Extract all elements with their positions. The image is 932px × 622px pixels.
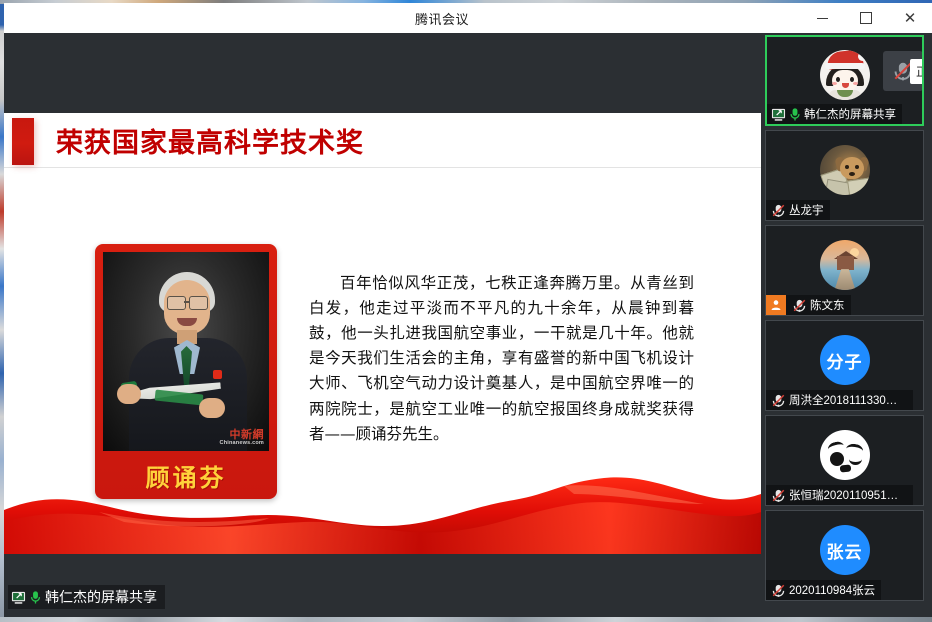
- participant-name-bar: 陈文东: [766, 295, 851, 315]
- taskbar-strip: [0, 617, 932, 622]
- party-pin-icon: [213, 370, 222, 379]
- participant-tile-2[interactable]: 陈文东: [765, 225, 924, 316]
- microphone-on-icon: [29, 590, 42, 605]
- tencent-meeting-window: 腾讯会议 ✕ 荣获国家最高科学技术奖: [0, 0, 932, 622]
- participant-name-bar: 张恒瑞2020110951张恒瑞: [766, 485, 913, 505]
- minimize-icon: [817, 18, 828, 19]
- glasses-right-icon: [189, 296, 208, 310]
- title-accent-bar: [12, 118, 34, 165]
- participant-name: 2020110984张云: [789, 582, 875, 598]
- avatar: [820, 430, 870, 480]
- ribbon-svg: [4, 464, 761, 554]
- santa-hat-pom: [858, 52, 867, 61]
- participant-name-bar: 丛龙宇: [766, 200, 830, 220]
- participant-tile-1[interactable]: 丛龙宇: [765, 130, 924, 221]
- screen-share-label: 韩仁杰的屏幕共享: [8, 585, 165, 609]
- shared-screen-stage[interactable]: 荣获国家最高科学技术奖: [4, 33, 761, 617]
- avatar: [820, 240, 870, 290]
- participant-name: 丛龙宇: [789, 202, 824, 218]
- red-ribbon-decoration: [4, 464, 761, 554]
- avatar-dog-nose: [849, 172, 855, 176]
- microphone-on-icon: [789, 107, 801, 122]
- participant-list[interactable]: 正 韩仁杰的屏幕共享: [761, 33, 932, 617]
- microphone-muted-icon: [771, 488, 786, 503]
- avatar: 分子: [820, 335, 870, 385]
- microphone-muted-icon: [771, 583, 786, 598]
- avatar-dog-eye-left: [845, 165, 849, 169]
- title-bar: 腾讯会议 ✕: [4, 3, 932, 33]
- maximize-button[interactable]: [844, 3, 888, 33]
- slide-title-row: 荣获国家最高科学技术奖: [4, 113, 761, 168]
- close-button[interactable]: ✕: [888, 3, 932, 33]
- avatar-hut: [837, 256, 854, 270]
- portrait-hand-left: [117, 384, 141, 404]
- avatar-eye-left: [830, 452, 844, 466]
- maximize-icon: [860, 12, 872, 24]
- participant-name: 陈文东: [810, 297, 845, 313]
- microphone-muted-icon: [771, 393, 786, 408]
- window-title: 腾讯会议: [4, 9, 800, 28]
- slide-title: 荣获国家最高科学技术奖: [56, 121, 364, 160]
- person-icon: [770, 299, 782, 311]
- portrait-photo: 中新網 Chinanews.com: [103, 252, 269, 451]
- participant-tile-0[interactable]: 正 韩仁杰的屏幕共享: [765, 35, 924, 126]
- screen-share-icon: [11, 590, 26, 605]
- watermark-en: Chinanews.com: [220, 441, 264, 447]
- participant-name-bar: 周洪全2018111330积极…: [766, 390, 913, 410]
- santa-hat-brim: [825, 63, 865, 69]
- participant-name: 周洪全2018111330积极…: [789, 392, 907, 408]
- microphone-muted-icon: [792, 298, 807, 313]
- participant-name-bar: 2020110984张云: [766, 580, 881, 600]
- avatar-mouth: [839, 465, 851, 473]
- photo-watermark: 中新網 Chinanews.com: [220, 430, 264, 447]
- window-controls: ✕: [800, 3, 932, 33]
- avatar-cheek-left: [832, 82, 837, 85]
- close-icon: ✕: [904, 11, 917, 26]
- avatar: 张云: [820, 525, 870, 575]
- participant-name-bar: 韩仁杰的屏幕共享: [767, 104, 902, 124]
- participant-name: 韩仁杰的屏幕共享: [804, 106, 896, 122]
- participant-tile-4[interactable]: 张恒瑞2020110951张恒瑞: [765, 415, 924, 506]
- screen-share-icon: [771, 107, 786, 122]
- portrait-card: 中新網 Chinanews.com 顾诵芬: [95, 244, 277, 499]
- presentation-slide: 荣获国家最高科学技术奖: [4, 113, 761, 554]
- slide-body-text: 百年恰似风华正茂，七秩正逢奔腾万里。从青丝到白发，他走过平淡而不平凡的九十余年，…: [309, 271, 694, 447]
- glasses-left-icon: [167, 296, 186, 310]
- share-label-text: 韩仁杰的屏幕共享: [45, 587, 157, 607]
- glasses-bridge: [184, 301, 189, 303]
- participant-tile-3[interactable]: 分子 周洪全2018111330积极…: [765, 320, 924, 411]
- host-badge-icon: [766, 295, 786, 315]
- avatar-dog-eye-right: [855, 165, 859, 169]
- avatar-cheek-right: [853, 82, 858, 85]
- participant-name: 张恒瑞2020110951张恒瑞: [789, 487, 907, 503]
- avatar-pier-deck: [835, 269, 856, 290]
- minimize-button[interactable]: [800, 3, 844, 33]
- avatar-cash-3: [847, 178, 870, 196]
- microphone-muted-icon: [771, 203, 786, 218]
- avatar-eye-right: [849, 453, 862, 465]
- avatar-eye-left: [836, 77, 840, 82]
- portrait-hand-right: [199, 398, 225, 418]
- avatar: [820, 50, 870, 100]
- avatar: [820, 145, 870, 195]
- participant-tile-5[interactable]: 张云 2020110984张云: [765, 510, 924, 601]
- mute-tooltip: 正: [910, 59, 924, 84]
- meeting-body: 荣获国家最高科学技术奖: [4, 33, 932, 617]
